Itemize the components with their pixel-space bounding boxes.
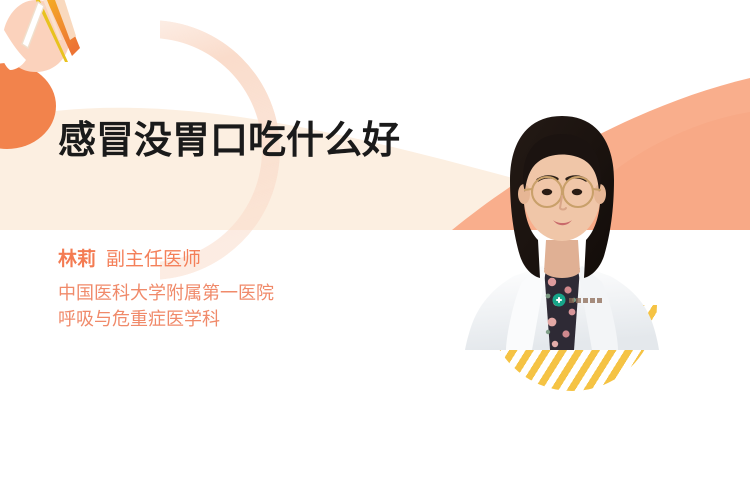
hospital-badge <box>552 292 620 310</box>
neck <box>544 240 580 278</box>
doctor-photo <box>462 100 662 350</box>
badge-text-marks <box>569 298 602 303</box>
eye-left <box>542 189 552 195</box>
doctor-name: 林莉 <box>58 249 96 270</box>
doctor-rank: 副主任医师 <box>106 249 201 270</box>
page-title: 感冒没胃口吃什么好 <box>58 118 428 164</box>
outlined-stripe-decoration <box>0 0 70 60</box>
doctor-name-row: 林莉副主任医师 <box>58 246 274 274</box>
doctor-department: 呼吸与危重症医学科 <box>58 306 274 332</box>
eye-right <box>572 189 582 195</box>
doctor-hospital: 中国医科大学附属第一医院 <box>58 280 274 306</box>
doctor-info-block: 林莉副主任医师 中国医科大学附属第一医院 呼吸与危重症医学科 <box>58 246 274 332</box>
doctor-info-card: 感冒没胃口吃什么好 林莉副主任医师 中国医科大学附属第一医院 呼吸与危重症医学科 <box>0 0 750 500</box>
